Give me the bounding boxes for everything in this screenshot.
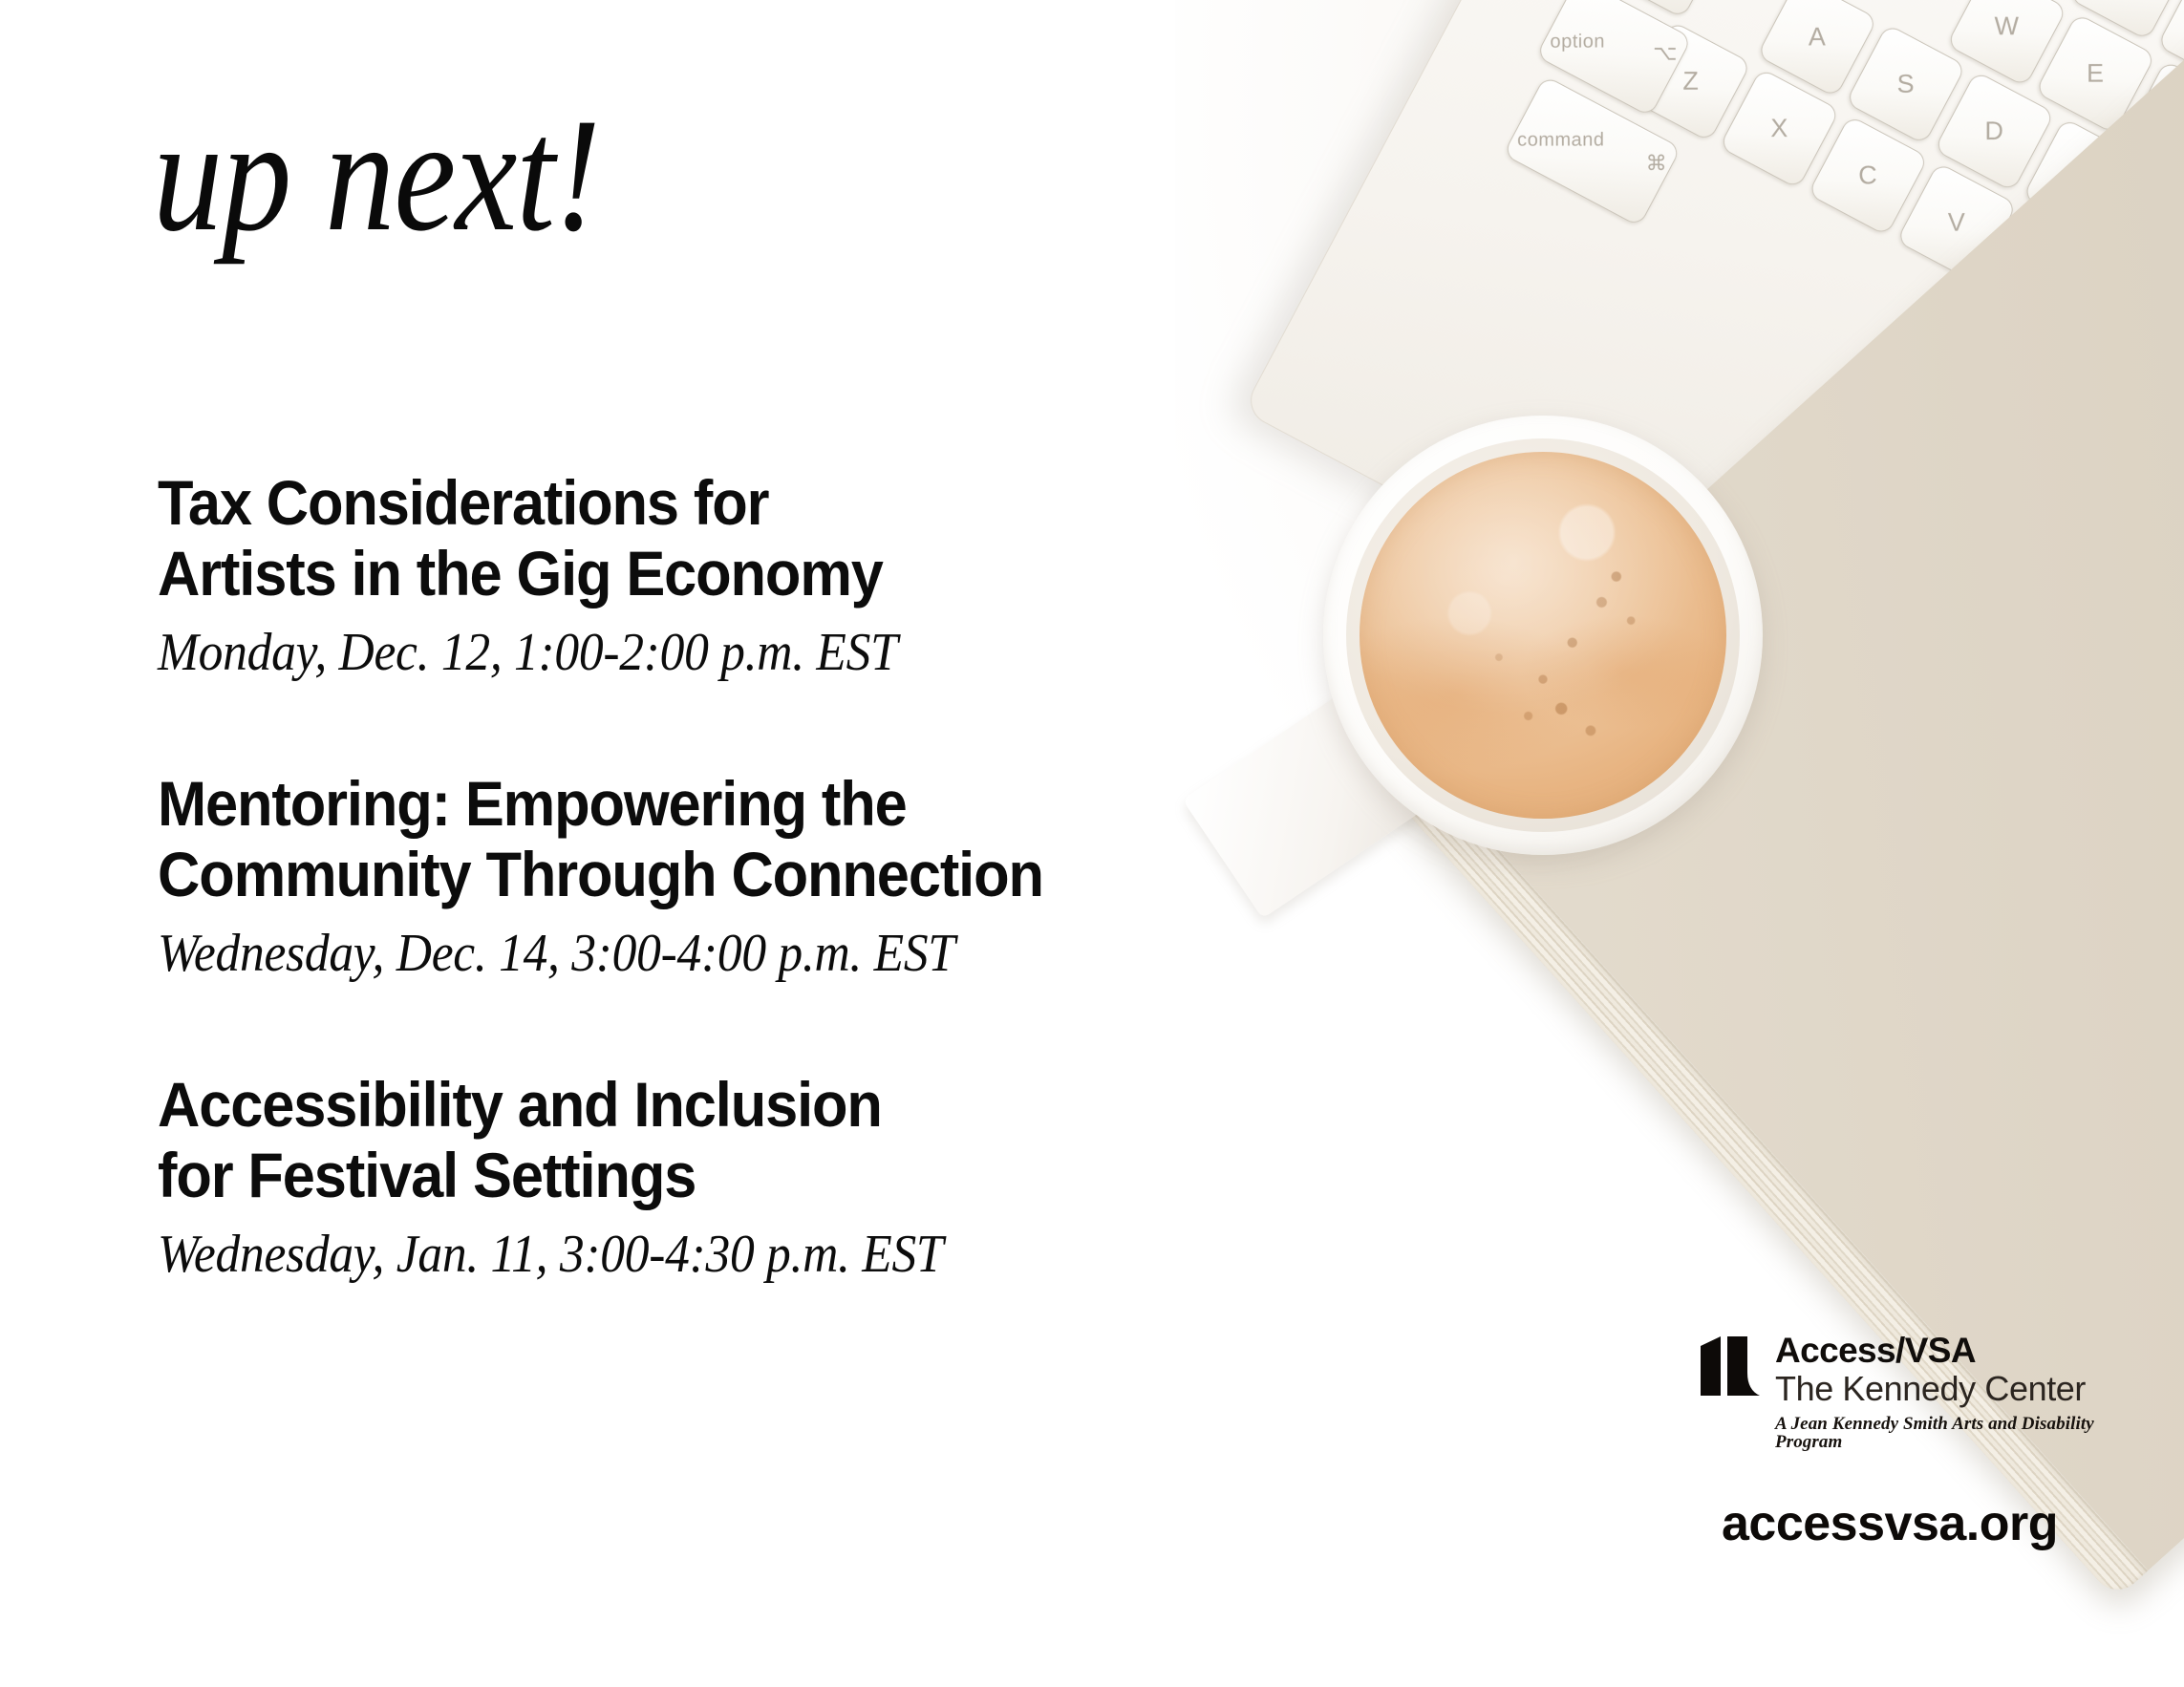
event-item: Accessibility and Inclusion for Festival…: [158, 1070, 1170, 1287]
key-label: V: [1948, 208, 1966, 238]
event-item: Mentoring: Empowering the Community Thro…: [158, 769, 1170, 986]
option-symbol-icon: ⌥: [1653, 41, 1678, 66]
key-label: D: [1985, 117, 2004, 146]
coffee-cup: [1323, 416, 1763, 855]
key-label: S: [1897, 70, 1916, 99]
event-title: Tax Considerations for Artists in the Gi…: [158, 468, 1100, 609]
command-symbol-icon: ⌘: [1645, 151, 1667, 176]
brand-logo-block: Access/VSA The Kennedy Center A Jean Ken…: [1699, 1333, 2148, 1552]
brand-tagline: A Jean Kennedy Smith Arts and Disability…: [1775, 1415, 2148, 1451]
coffee-crema: [1360, 452, 1726, 819]
key-label: X: [1770, 114, 1788, 143]
text-panel: up next! Tax Considerations for Artists …: [0, 0, 1175, 1687]
event-date: Wednesday, Dec. 14, 3:00-4:00 p.m. EST: [158, 922, 1089, 986]
page-title: up next!: [153, 94, 600, 256]
website-url: accessvsa.org: [1722, 1495, 2148, 1552]
key-label: A: [1809, 22, 1827, 52]
cup-inner-rim: [1346, 438, 1740, 832]
key-label: E: [2087, 59, 2105, 89]
event-date: Wednesday, Jan. 11, 3:00-4:30 p.m. EST: [158, 1223, 1089, 1287]
kennedy-center-logo-icon: [1699, 1335, 1762, 1399]
logo-row: Access/VSA The Kennedy Center A Jean Ken…: [1699, 1333, 2148, 1451]
event-list: Tax Considerations for Artists in the Gi…: [158, 468, 1170, 1287]
brand-name: Access/VSA: [1775, 1333, 2148, 1368]
event-item: Tax Considerations for Artists in the Gi…: [158, 468, 1170, 685]
desk-photo: 4 5 6 W E R T Y A S D F: [1175, 0, 2184, 1687]
key-label: W: [1995, 11, 2020, 41]
organization-name: The Kennedy Center: [1775, 1372, 2148, 1406]
poster-canvas: up next! Tax Considerations for Artists …: [0, 0, 2184, 1687]
event-title: Accessibility and Inclusion for Festival…: [158, 1070, 1100, 1211]
logo-text-group: Access/VSA The Kennedy Center A Jean Ken…: [1775, 1333, 2148, 1451]
key-label: command: [1517, 130, 1604, 152]
event-title: Mentoring: Empowering the Community Thro…: [158, 769, 1100, 910]
event-date: Monday, Dec. 12, 1:00-2:00 p.m. EST: [158, 621, 1089, 685]
key-label: C: [1858, 160, 1877, 190]
key-label: Z: [1682, 67, 1699, 96]
key-label: option: [1551, 32, 1606, 53]
